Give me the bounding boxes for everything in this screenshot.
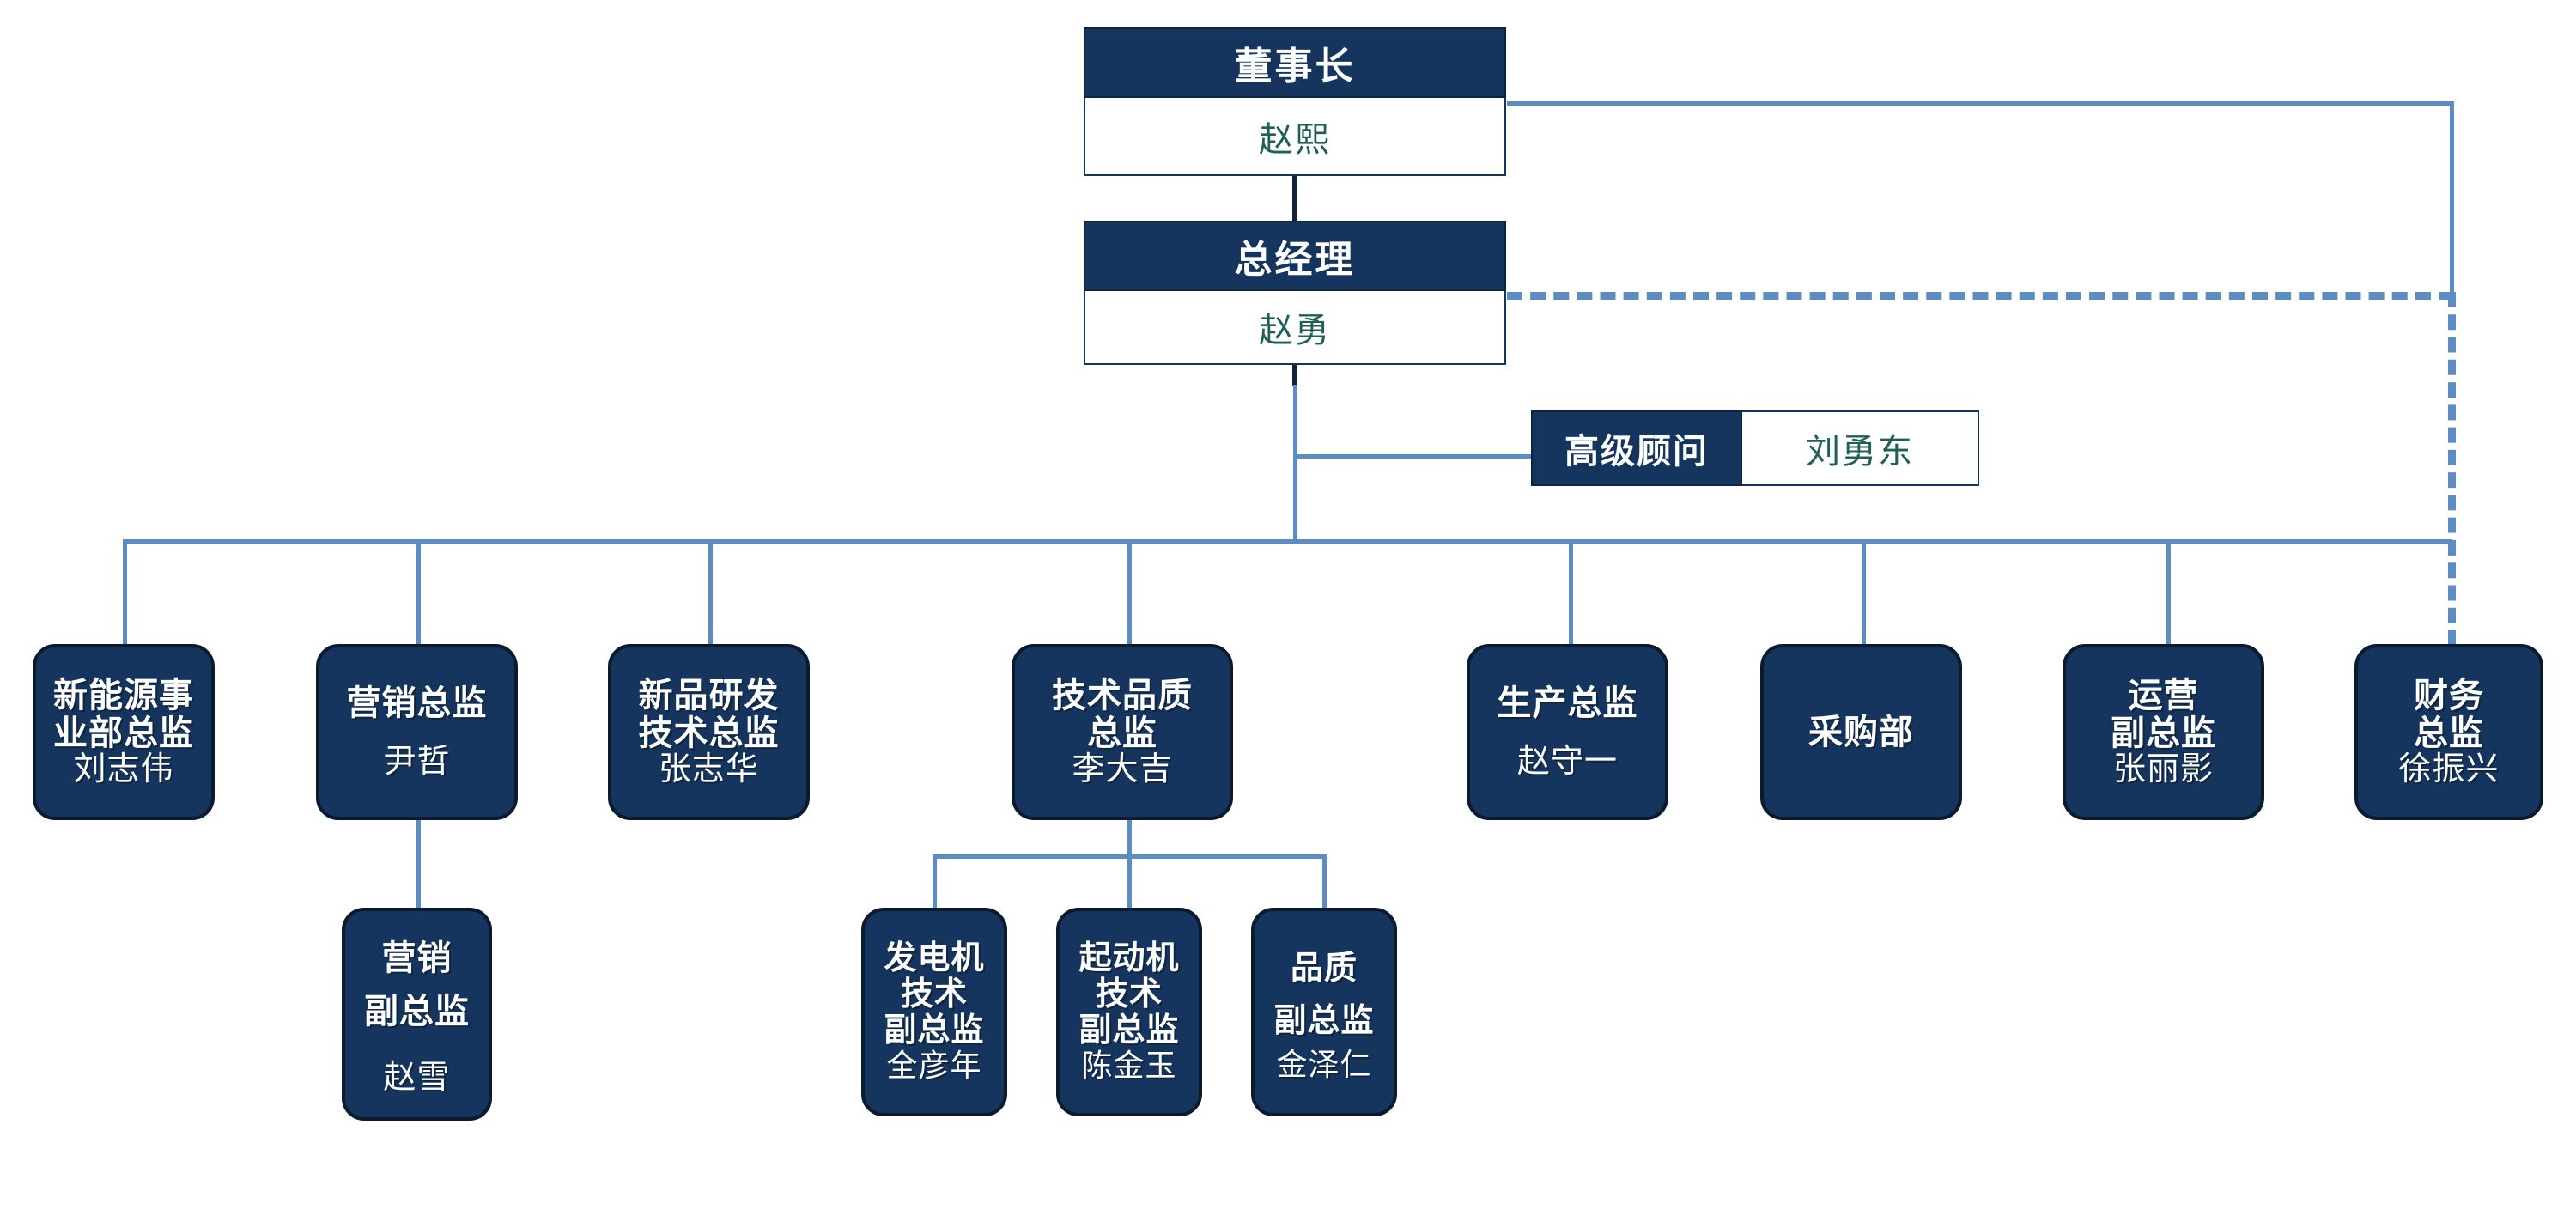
node-quality-vp[interactable]: 品质 副总监 金泽仁	[1251, 908, 1397, 1116]
node-generator-tech-vp-name: 全彦年	[886, 1049, 981, 1083]
node-finance-director-title: 财务 总监	[2414, 677, 2484, 752]
node-tech-quality-director-name: 李大吉	[1072, 752, 1172, 788]
node-senior-advisor-name: 刘勇东	[1742, 410, 1979, 486]
node-marketing-vp-name: 赵雪	[383, 1061, 450, 1097]
node-rnd-director[interactable]: 新品研发 技术总监 张志华	[608, 644, 810, 820]
connector-drop-production	[1569, 539, 1573, 647]
node-new-energy-director-title: 新能源事 业部总监	[53, 677, 194, 752]
node-operations-vp[interactable]: 运营 副总监 张丽影	[2063, 644, 2264, 820]
node-starter-tech-vp-title: 起动机 技术 副总监	[1078, 941, 1179, 1049]
connector-marketing-to-vp	[416, 818, 421, 908]
node-senior-advisor-title: 高级顾问	[1531, 410, 1742, 486]
connector-drop-purchasing	[1862, 539, 1866, 647]
node-starter-tech-vp-name: 陈金玉	[1081, 1049, 1176, 1083]
node-rnd-director-name: 张志华	[659, 752, 759, 788]
connector-drop-marketing	[416, 539, 421, 647]
connector-drop-tech-quality	[1127, 539, 1132, 647]
node-marketing-director-name: 尹哲	[383, 745, 450, 781]
node-finance-director[interactable]: 财务 总监 徐振兴	[2354, 644, 2543, 820]
node-marketing-vp-title: 营销 副总监	[364, 932, 470, 1038]
connector-drop-new-energy	[123, 539, 127, 647]
node-new-energy-director-name: 刘志伟	[73, 752, 173, 788]
org-chart-canvas: 董事长 赵熙 总经理 赵勇 高级顾问 刘勇东 新能源事 业部总监 刘志伟 营销总…	[0, 0, 2576, 1228]
node-production-director[interactable]: 生产总监 赵守一	[1467, 644, 1668, 820]
node-chairman[interactable]: 董事长 赵熙	[1084, 27, 1506, 176]
connector-dashed-to-finance	[2448, 292, 2456, 646]
node-marketing-director[interactable]: 营销总监 尹哲	[316, 644, 518, 820]
node-rnd-director-title: 新品研发 技术总监	[639, 677, 780, 752]
node-general-manager[interactable]: 总经理 赵勇	[1084, 221, 1506, 365]
connector-drop-rnd	[708, 539, 713, 647]
connector-drop-quality	[1322, 854, 1327, 908]
connector-main-bus	[123, 539, 2452, 544]
node-new-energy-director[interactable]: 新能源事 业部总监 刘志伟	[33, 644, 215, 820]
connector-gm-dashed-right	[1507, 292, 2454, 300]
connector-drop-generator	[933, 854, 937, 908]
connector-techquality-stem	[1127, 818, 1132, 857]
node-production-director-name: 赵守一	[1517, 745, 1618, 781]
node-tech-quality-director[interactable]: 技术品质 总监 李大吉	[1012, 644, 1233, 820]
node-starter-tech-vp[interactable]: 起动机 技术 副总监 陈金玉	[1056, 908, 1202, 1116]
node-generator-tech-vp[interactable]: 发电机 技术 副总监 全彦年	[861, 908, 1007, 1116]
node-operations-vp-name: 张丽影	[2113, 752, 2214, 788]
node-senior-advisor[interactable]: 高级顾问 刘勇东	[1531, 410, 1979, 486]
node-marketing-director-title: 营销总监	[347, 684, 488, 722]
connector-drop-operations	[2166, 539, 2171, 647]
node-generator-tech-vp-title: 发电机 技术 副总监	[884, 941, 984, 1049]
connector-gm-advisor	[1293, 454, 1534, 459]
node-production-director-title: 生产总监	[1498, 684, 1638, 722]
connector-chairman-right	[1507, 101, 2454, 106]
node-marketing-vp[interactable]: 营销 副总监 赵雪	[342, 908, 492, 1121]
node-tech-quality-director-title: 技术品质 总监	[1052, 677, 1193, 752]
node-finance-director-name: 徐振兴	[2398, 752, 2499, 788]
node-quality-vp-title: 品质 副总监	[1273, 943, 1374, 1048]
connector-drop-starter	[1127, 854, 1132, 908]
node-operations-vp-title: 运营 副总监	[2111, 677, 2216, 752]
connector-chairman-gm	[1292, 176, 1297, 222]
node-general-manager-title: 总经理	[1084, 221, 1506, 291]
node-quality-vp-name: 金泽仁	[1276, 1048, 1371, 1082]
node-purchasing-department[interactable]: 采购部	[1760, 644, 1962, 820]
connector-gm-stem	[1293, 385, 1297, 542]
node-chairman-title: 董事长	[1084, 27, 1506, 98]
node-chairman-name: 赵熙	[1084, 98, 1506, 176]
connector-chairman-down	[2450, 101, 2454, 295]
node-purchasing-department-title: 采购部	[1808, 714, 1914, 751]
connector-gm-stem-dark	[1292, 365, 1297, 386]
node-general-manager-name: 赵勇	[1084, 291, 1506, 365]
